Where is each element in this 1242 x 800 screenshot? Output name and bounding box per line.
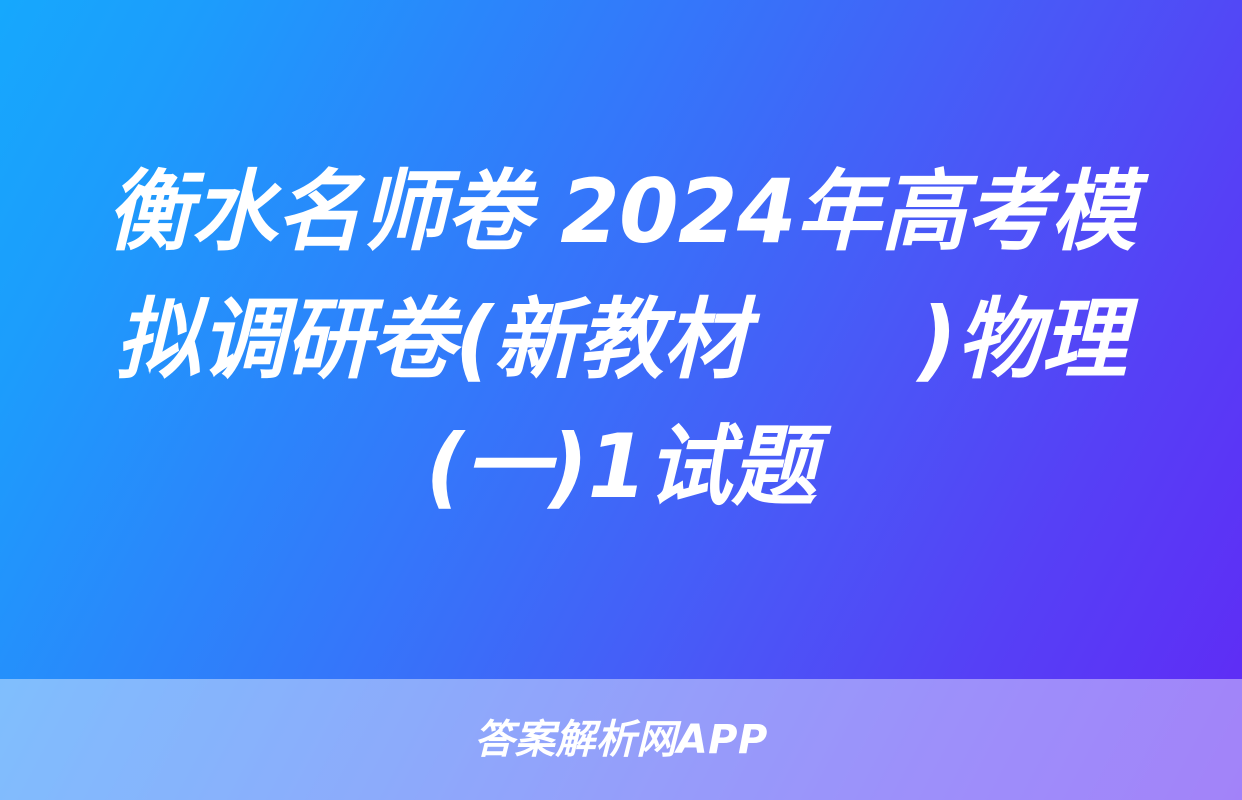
hero-title-region: 衡水名师卷 2024年高考模拟调研卷(新教材 )物理(一)1试题 — [0, 0, 1242, 679]
page-title: 衡水名师卷 2024年高考模拟调研卷(新教材 )物理(一)1试题 — [73, 148, 1169, 531]
watermark-label: 答案解析网APP — [474, 720, 768, 760]
watermark-band: 答案解析网APP — [0, 679, 1242, 800]
exam-paper-cover-card: 衡水名师卷 2024年高考模拟调研卷(新教材 )物理(一)1试题 答案解析网AP… — [0, 0, 1242, 800]
title-block: 衡水名师卷 2024年高考模拟调研卷(新教材 )物理(一)1试题 — [56, 148, 1186, 531]
